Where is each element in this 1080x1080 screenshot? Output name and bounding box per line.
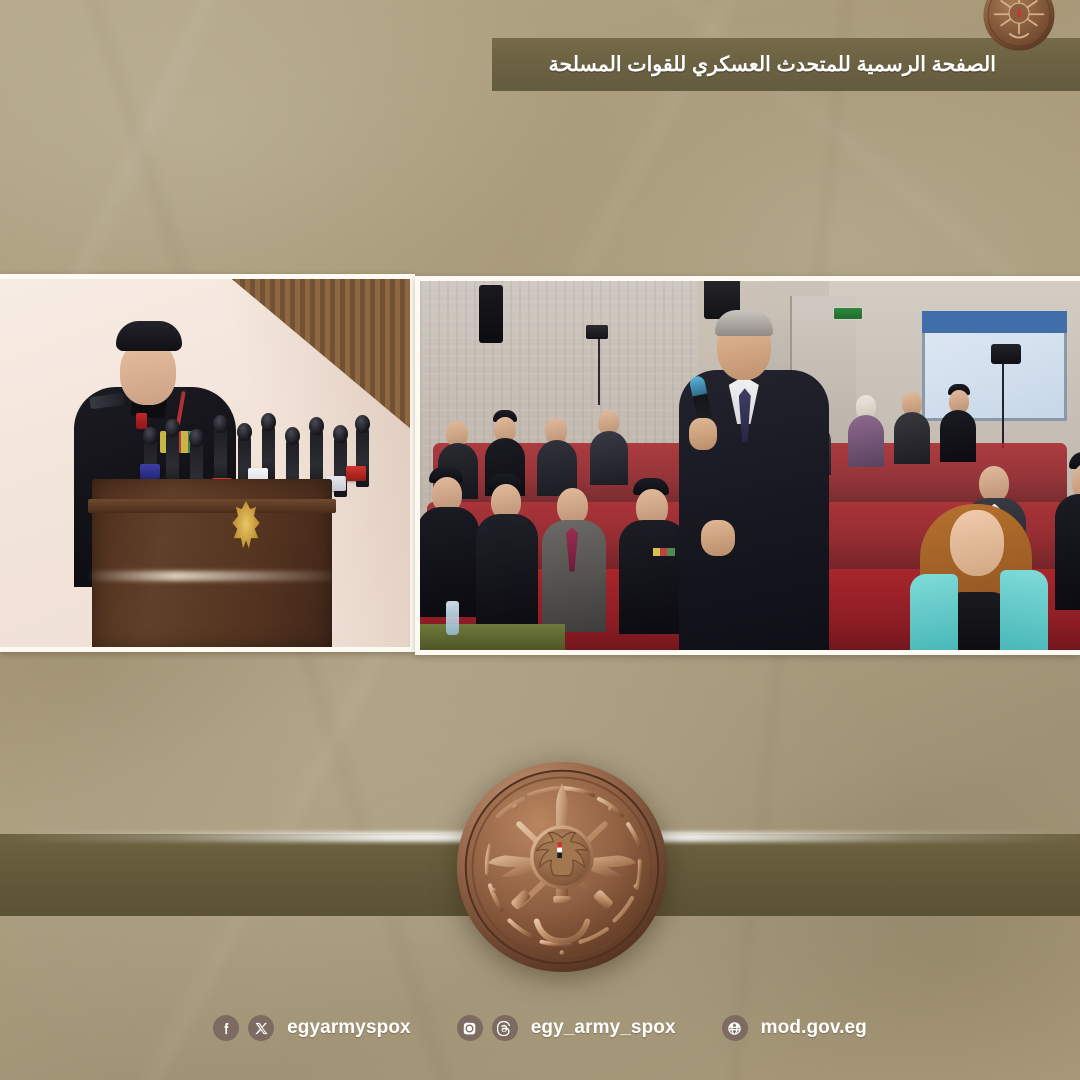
camera-tripod-right xyxy=(1002,362,1004,448)
speaker-hair xyxy=(715,310,773,336)
wall-speaker xyxy=(479,285,503,343)
page-title: الصفحة الرسمية للمتحدث العسكري للقوات ال… xyxy=(549,52,997,77)
globe-icon[interactable] xyxy=(722,1015,748,1041)
speaker-hand-holding-mic xyxy=(689,418,717,450)
podium-top-edge xyxy=(88,499,336,513)
attendee-blazer-right xyxy=(1000,570,1048,650)
instagram-icon[interactable] xyxy=(457,1015,483,1041)
photo-audience-question[interactable] xyxy=(415,276,1080,655)
photo-podium-speech[interactable] xyxy=(0,274,415,652)
video-camera-left xyxy=(586,325,608,339)
camera-tripod xyxy=(598,333,600,405)
social-handle-instagram-threads: egy_army_spox xyxy=(531,1017,676,1039)
social-handle-facebook-x: egyarmyspox xyxy=(287,1017,411,1039)
header-emblem-icon xyxy=(982,0,1056,70)
attendee-face xyxy=(950,510,1004,576)
projection-screen-header xyxy=(922,311,1067,333)
speaker-gesturing-hand xyxy=(701,520,735,556)
water-bottle xyxy=(446,601,459,635)
foreground-attendee xyxy=(914,498,1042,650)
podium-light-strip xyxy=(90,571,334,581)
social-group-instagram-threads[interactable]: egy_army_spox xyxy=(457,1015,676,1041)
officer-beret xyxy=(116,321,182,351)
photo-strip xyxy=(0,274,1080,654)
foreground-table xyxy=(420,624,565,650)
video-camera-right xyxy=(991,344,1021,364)
threads-icon[interactable] xyxy=(492,1015,518,1041)
social-links-row: egyarmyspox egy_army_spox mod.gov.eg xyxy=(0,1006,1080,1050)
social-group-facebook-x[interactable]: egyarmyspox xyxy=(213,1015,411,1041)
armed-forces-emblem-icon xyxy=(455,760,669,974)
social-handle-website: mod.gov.eg xyxy=(761,1017,867,1039)
social-group-website[interactable]: mod.gov.eg xyxy=(722,1015,867,1041)
facebook-icon[interactable] xyxy=(213,1015,239,1041)
standing-speaker xyxy=(671,314,839,650)
x-twitter-icon[interactable] xyxy=(248,1015,274,1041)
attendee-blazer-left xyxy=(910,574,958,650)
